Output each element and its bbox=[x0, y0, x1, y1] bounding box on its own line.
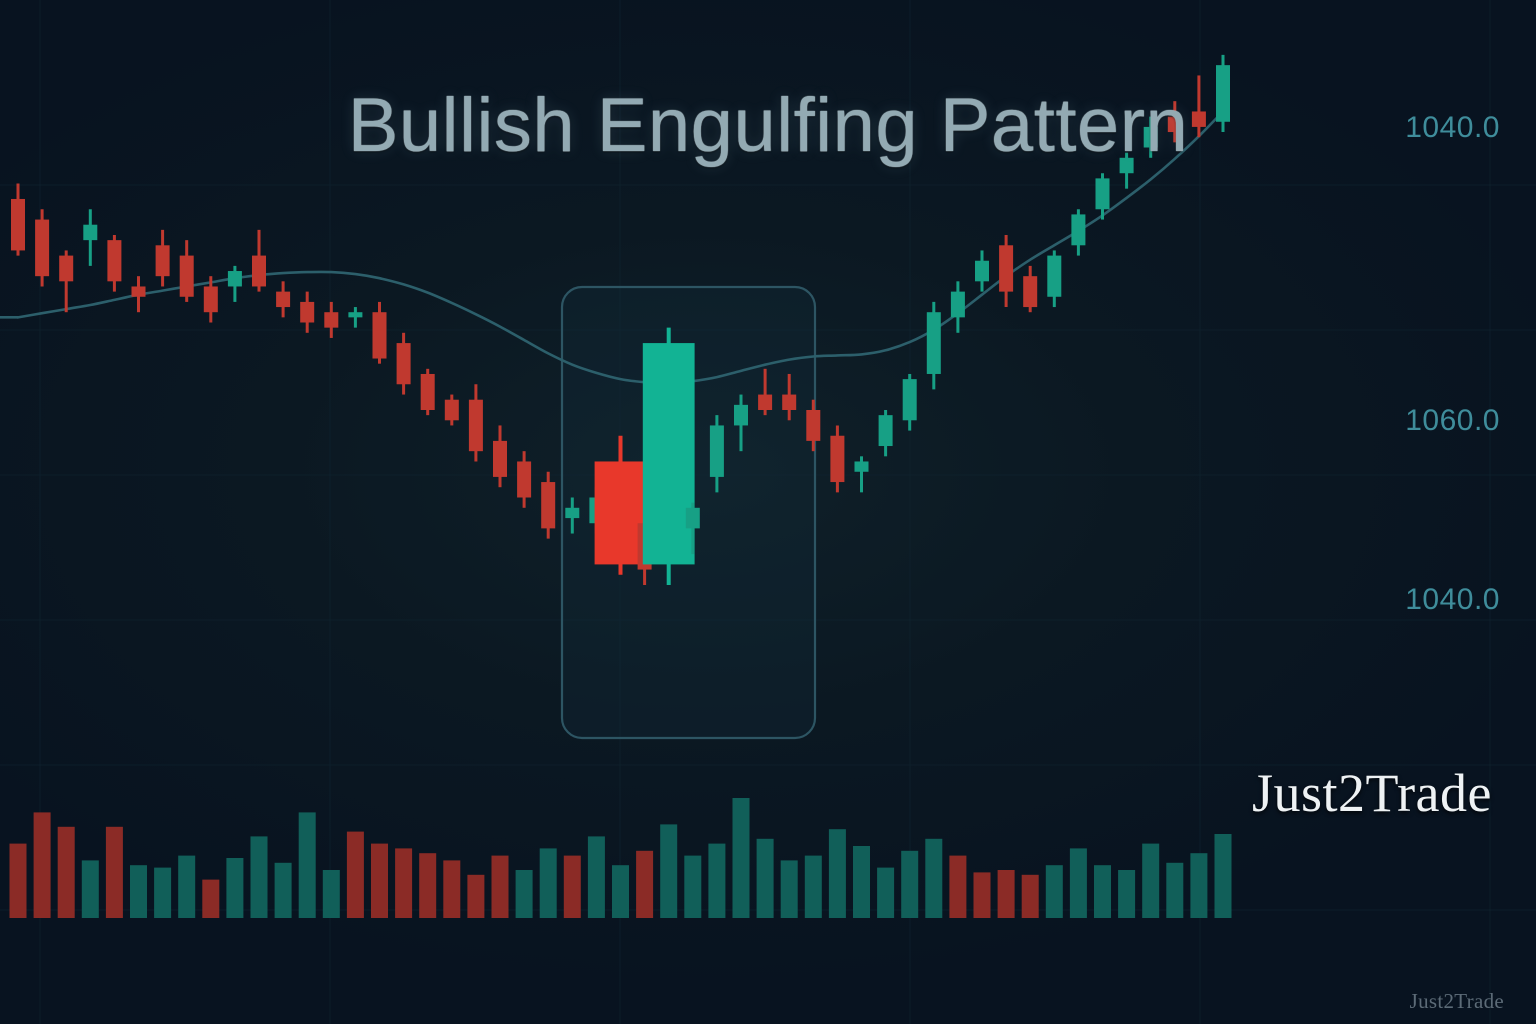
brand-logo: Just2Trade bbox=[1252, 762, 1492, 824]
chart-canvas: Bullish Engulfing Pattern 1040.01060.010… bbox=[0, 0, 1536, 1024]
price-axis-label: 1040.0 bbox=[1405, 111, 1500, 145]
price-axis-label: 1060.0 bbox=[1405, 404, 1500, 438]
brand-watermark: Just2Trade bbox=[1410, 989, 1504, 1014]
candlestick-chart bbox=[0, 0, 1536, 1024]
price-axis-label: 1040.0 bbox=[1405, 583, 1500, 617]
